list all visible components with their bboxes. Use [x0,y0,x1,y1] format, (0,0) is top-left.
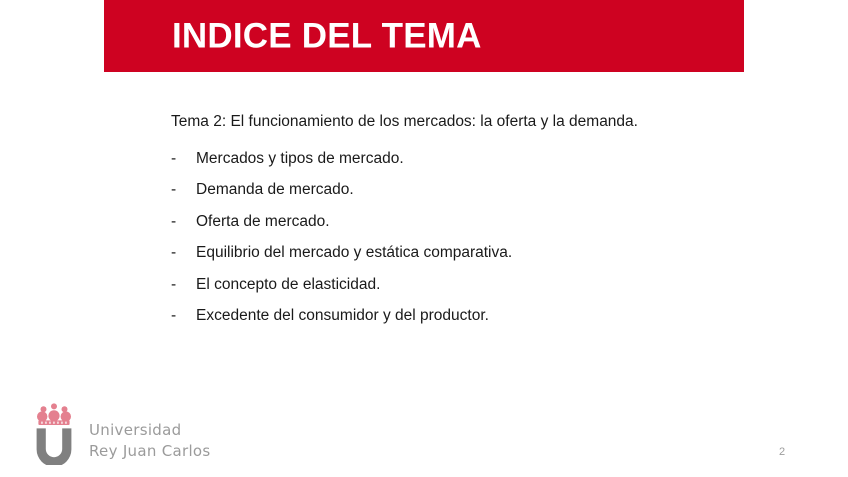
list-item-label: El concepto de elasticidad. [196,275,380,296]
topic-heading: Tema 2: El funcionamiento de los mercado… [171,112,771,133]
list-item-label: Equilibrio del mercado y estática compar… [196,243,512,264]
list-item: - Demanda de mercado. [171,180,771,201]
list-item: - Excedente del consumidor y del product… [171,306,771,327]
list-item-label: Oferta de mercado. [196,212,330,233]
page-title: INDICE DEL TEMA [172,19,482,54]
university-name-line1: Universidad [89,420,211,441]
list-item: - Mercados y tipos de mercado. [171,149,771,170]
bullet-dash-icon: - [171,149,196,170]
list-item-label: Demanda de mercado. [196,180,354,201]
list-item: - El concepto de elasticidad. [171,275,771,296]
university-name-line2: Rey Juan Carlos [89,441,211,462]
list-item: - Oferta de mercado. [171,212,771,233]
content-body: Tema 2: El funcionamiento de los mercado… [171,112,771,337]
bullet-dash-icon: - [171,275,196,296]
university-name: Universidad Rey Juan Carlos [89,420,211,461]
slide-canvas: INDICE DEL TEMA Tema 2: El funcionamient… [0,0,848,477]
bullet-dash-icon: - [171,212,196,233]
title-banner: INDICE DEL TEMA [104,0,744,72]
list-item: - Equilibrio del mercado y estática comp… [171,243,771,264]
bullet-dash-icon: - [171,180,196,201]
list-item-label: Mercados y tipos de mercado. [196,149,404,170]
bullet-dash-icon: - [171,306,196,327]
bullet-dash-icon: - [171,243,196,264]
slide-number: 2 [770,446,794,458]
urjc-crown-u-icon [33,403,75,465]
university-logo: Universidad Rey Juan Carlos [33,403,253,465]
list-item-label: Excedente del consumidor y del productor… [196,306,489,327]
